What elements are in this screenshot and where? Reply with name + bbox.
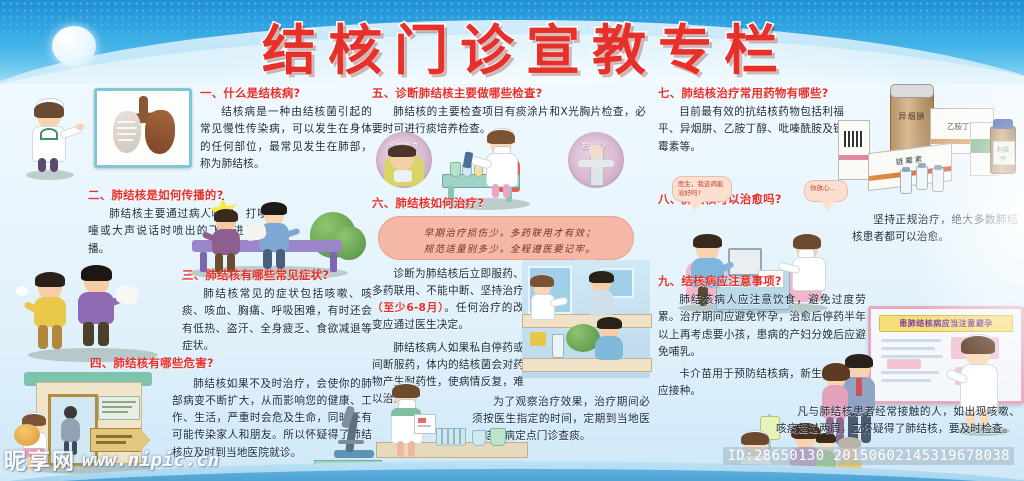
doctor-speech-text: 你放心… — [810, 184, 844, 193]
waste-bin — [530, 332, 546, 346]
section-9-heading: 九、结核病应注意事项? — [658, 274, 866, 288]
page-title: 结核门诊宣教专栏 — [96, 12, 956, 78]
site-name-cn: 昵享网 — [4, 444, 76, 476]
coughing-men-illustration — [18, 270, 178, 366]
hospital-ward-illustration — [522, 260, 650, 378]
sputum-test-circle: 留痰检查 — [376, 132, 432, 188]
treatment-duration-highlight: （至少6-8月） — [372, 302, 444, 314]
clipboard — [414, 414, 436, 434]
image-id-watermark: ID:28650130 20150602145319678038 — [723, 447, 1014, 465]
left-lung-shape — [113, 111, 141, 153]
xray-test-circle: 拍X光片 — [568, 132, 624, 188]
doctor-pointing-illustration — [20, 98, 84, 180]
patient-speech-text: 医生，我这病能治好吗? — [678, 180, 728, 199]
site-watermark: 昵享网 www.nipic.cn — [4, 443, 219, 477]
section-6-heading: 六、肺结核如何治疗? — [372, 196, 646, 210]
site-url: www.nipic.cn — [82, 449, 219, 471]
section-3-heading: 三、肺结核有哪些常见症状? — [182, 268, 372, 282]
medicine-box-1 — [838, 120, 870, 180]
decorative-circle — [52, 26, 96, 66]
section-7-text: 目前最有效的抗结核药物包括利福平、异烟肼、乙胺丁醇、吡嗪酰胺及链霉素等。 — [658, 104, 844, 155]
doctor-speech-bubble: 你放心… — [804, 180, 848, 202]
column-middle: 五、诊断肺结核主要做哪些检查? 肺结核的主要检查项目有痰涂片和X光胸片检查，必要… — [372, 84, 650, 481]
right-edge-glow — [904, 84, 1024, 414]
poster-board: 结核门诊宣教专栏 — [0, 0, 1024, 481]
section-1-heading: 一、什么是结核病? — [200, 86, 372, 100]
section-7-heading: 七、肺结核治疗常用药物有哪些? — [658, 86, 844, 100]
patient-speech-bubble: 医生，我这病能治好吗? — [672, 176, 732, 202]
right-lung-shape — [145, 110, 175, 154]
computer-monitor — [728, 248, 762, 276]
section-1-text: 结核病是一种由结核菌引起的常见慢性传染病，可以发生在身体的任何部位，最常见发生在… — [200, 104, 372, 173]
slogan-line-1: 早期治疗损伤少，多药联用才有效； — [400, 225, 620, 239]
lung-anatomy-image — [94, 88, 192, 168]
treatment-slogan-bubble: 早期治疗损伤少，多药联用才有效； 规范适量别多少，全程遵医要记牢。 — [378, 216, 634, 260]
section-5-heading: 五、诊断肺结核主要做哪些检查? — [372, 86, 646, 100]
section-3-text: 肺结核常见的症状包括咳嗽、咳痰、咳血、胸痛、呼吸困难，有时还会有低热、盗汗、全身… — [182, 286, 372, 355]
header-banner: 结核门诊宣教专栏 — [0, 0, 1024, 84]
slogan-line-2: 规范适量别多少，全程遵医要记牢。 — [400, 241, 620, 255]
column-left: 一、什么是结核病? 结核病是一种由结核菌引起的常见慢性传染病，可以发生在身体的任… — [14, 84, 374, 481]
section-6-text-1: 诊断为肺结核后立即服药、多药联用、不能中断、坚持治疗（至少6-8月）。任何治疗的… — [372, 266, 524, 335]
section-9-text-1: 肺结核病人应注意饮食，避免过度劳累。治疗期间应避免怀孕，治愈后停药半年以上再考虑… — [658, 292, 866, 361]
